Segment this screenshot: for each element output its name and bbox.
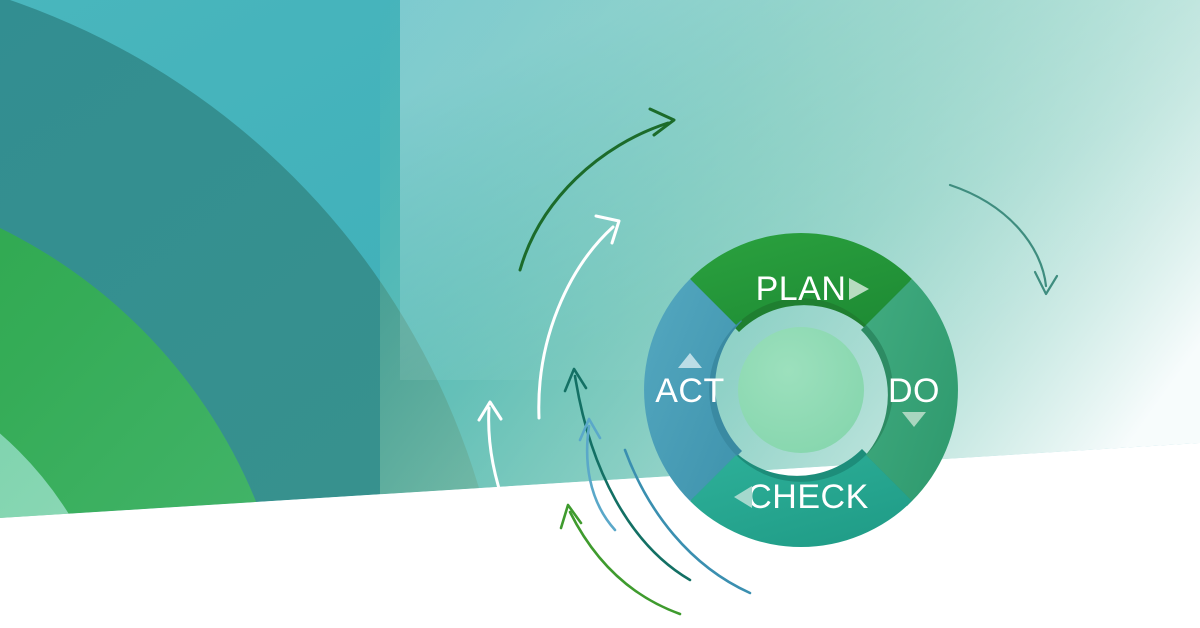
wheel-hub	[738, 327, 864, 453]
pdca-canvas: PLAN DO CHECK ACT	[0, 0, 1200, 628]
pdca-infographic: PLAN DO CHECK ACT	[0, 0, 1200, 628]
segment-label-check: CHECK	[747, 478, 869, 516]
segment-label-do: DO	[888, 372, 940, 410]
pdca-wheel: PLAN DO CHECK ACT	[644, 233, 958, 547]
top-fade-overlay	[400, 0, 1200, 380]
background-bands	[0, 0, 1200, 628]
segment-label-act: ACT	[655, 372, 725, 410]
segment-label-plan: PLAN	[756, 270, 847, 308]
